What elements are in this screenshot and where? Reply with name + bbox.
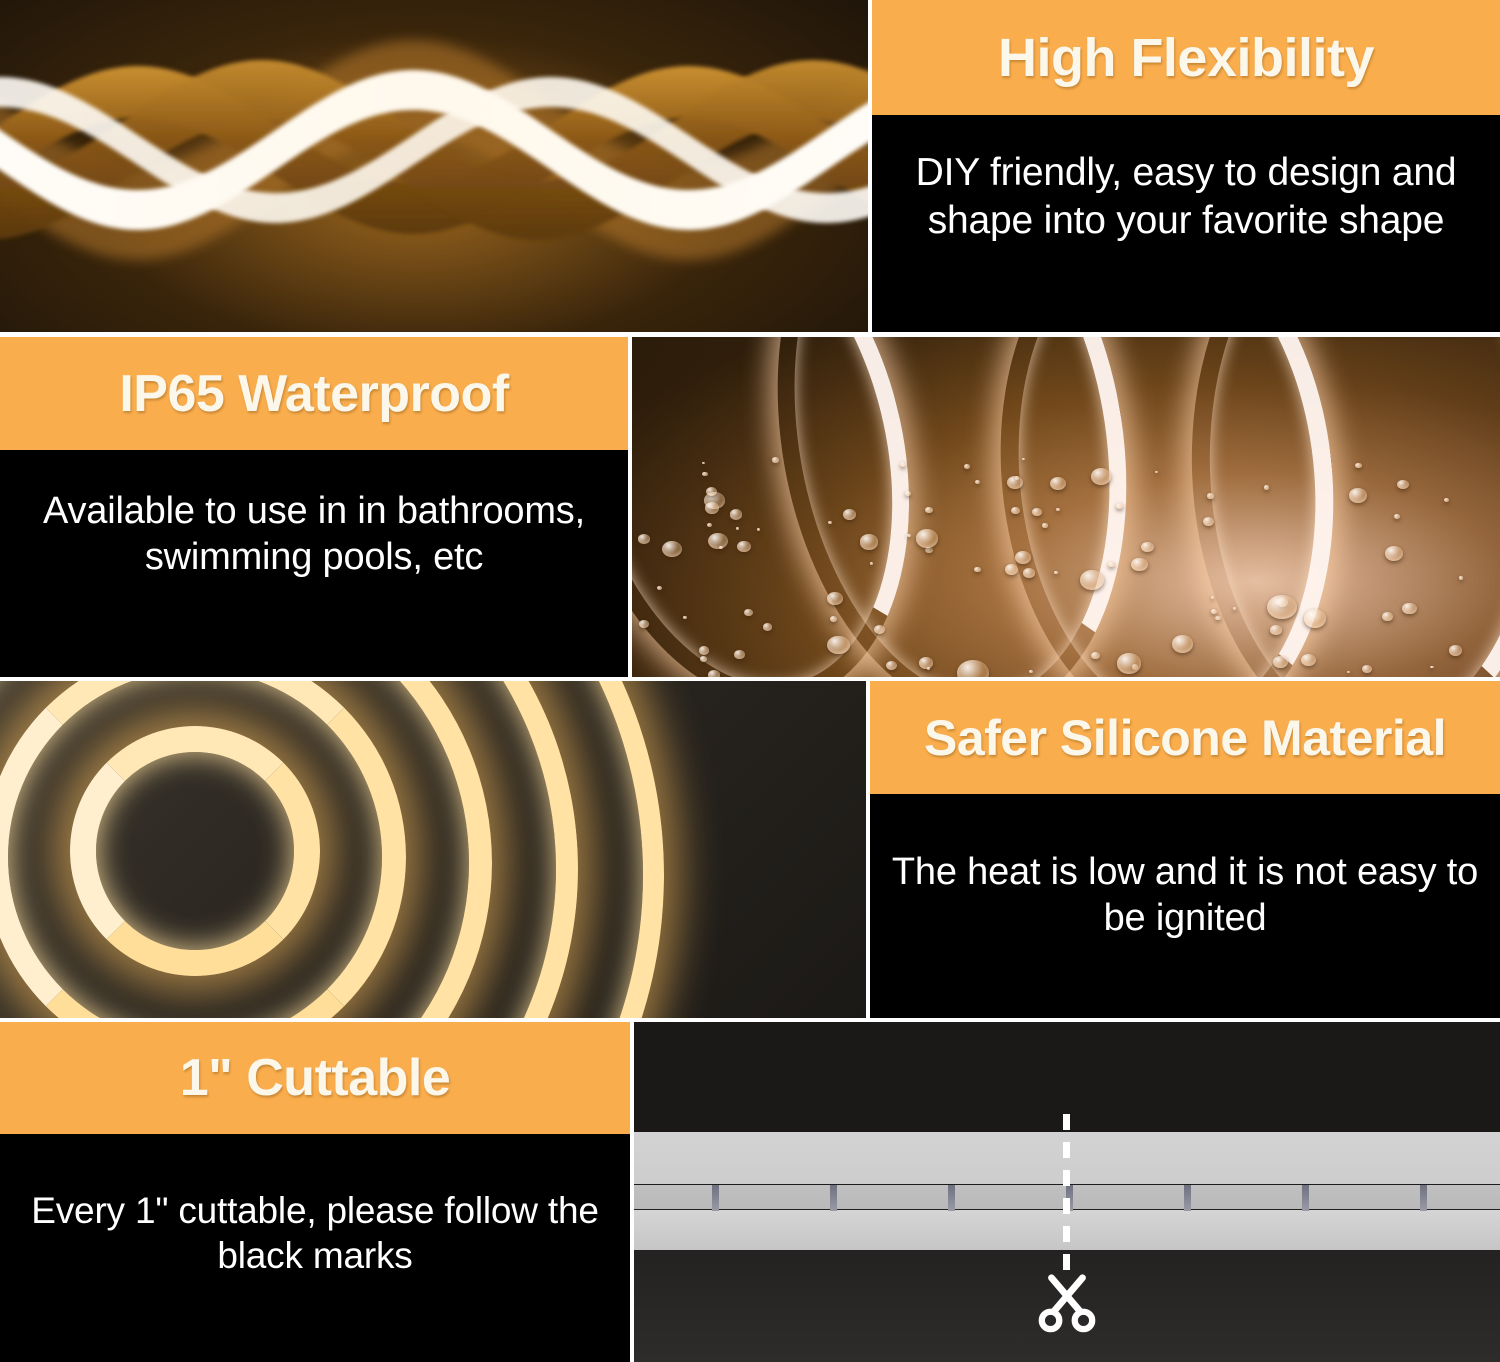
water-droplet bbox=[1042, 523, 1047, 527]
water-droplet bbox=[827, 592, 842, 605]
water-droplet bbox=[662, 541, 682, 557]
water-droplet bbox=[1005, 564, 1019, 575]
water-droplet bbox=[683, 616, 686, 619]
water-droplet bbox=[730, 509, 742, 519]
feature-row-high-flexibility: High Flexibility DIY friendly, easy to d… bbox=[0, 0, 1500, 332]
cuttable-strip-diagram bbox=[634, 1022, 1500, 1362]
feature-row-safer-silicone-material: Safer Silicone Material The heat is low … bbox=[0, 681, 1500, 1018]
water-droplet bbox=[702, 462, 705, 465]
scissors-icon bbox=[1036, 1272, 1098, 1334]
water-droplet bbox=[1050, 477, 1066, 490]
water-droplet bbox=[1117, 653, 1142, 673]
strip-cut-mark bbox=[1302, 1185, 1309, 1211]
water-droplet bbox=[1029, 670, 1033, 673]
water-droplet bbox=[1108, 562, 1115, 567]
water-droplet bbox=[860, 534, 879, 549]
strip-cut-mark bbox=[948, 1185, 955, 1211]
feature-body-wrap-safer-silicone-material: The heat is low and it is not easy to be… bbox=[870, 794, 1500, 1018]
water-droplet bbox=[700, 656, 707, 662]
water-droplet bbox=[1430, 666, 1433, 669]
feature-text-one-inch-cuttable: 1" Cuttable Every 1" cuttable, please fo… bbox=[0, 1022, 630, 1362]
water-droplet bbox=[957, 660, 989, 677]
water-droplet bbox=[699, 646, 710, 655]
water-droplet bbox=[1397, 480, 1409, 489]
feature-title-band-safer-silicone-material: Safer Silicone Material bbox=[870, 681, 1500, 794]
feature-title-one-inch-cuttable: 1" Cuttable bbox=[180, 1052, 451, 1104]
feature-text-ip65-waterproof: IP65 Waterproof Available to use in in b… bbox=[0, 337, 628, 677]
water-droplet bbox=[1080, 570, 1104, 590]
feature-body-wrap-high-flexibility: DIY friendly, easy to design and shape i… bbox=[872, 115, 1500, 332]
water-droplet bbox=[639, 620, 649, 628]
feature-row-one-inch-cuttable: 1" Cuttable Every 1" cuttable, please fo… bbox=[0, 1022, 1500, 1362]
water-droplet bbox=[708, 533, 728, 549]
water-droplet bbox=[1091, 468, 1111, 484]
water-droplet bbox=[827, 636, 850, 654]
water-droplet bbox=[1444, 498, 1449, 502]
row-divider-2 bbox=[0, 677, 1500, 681]
water-droplet bbox=[1382, 612, 1393, 621]
feature-title-safer-silicone-material: Safer Silicone Material bbox=[924, 713, 1446, 763]
feature-body-ip65-waterproof: Available to use in in bathrooms, swimmi… bbox=[0, 488, 628, 581]
water-droplet bbox=[736, 527, 739, 530]
water-droplet bbox=[638, 534, 650, 544]
water-droplet bbox=[1215, 616, 1221, 621]
cut-line-dashed bbox=[1063, 1114, 1070, 1278]
water-droplet bbox=[1264, 485, 1269, 489]
water-droplet bbox=[1459, 576, 1463, 579]
water-droplet bbox=[964, 464, 970, 469]
water-droplet bbox=[737, 541, 751, 552]
feature-text-high-flexibility: High Flexibility DIY friendly, easy to d… bbox=[872, 0, 1500, 332]
water-droplet bbox=[1402, 603, 1416, 615]
water-droplet bbox=[1015, 551, 1031, 564]
water-droplet bbox=[1349, 488, 1367, 503]
feature-body-safer-silicone-material: The heat is low and it is not easy to be… bbox=[870, 849, 1500, 942]
water-droplet bbox=[1355, 463, 1361, 468]
strip-cut-mark bbox=[712, 1185, 719, 1211]
strip-cut-mark bbox=[1184, 1185, 1191, 1211]
feature-body-high-flexibility: DIY friendly, easy to design and shape i… bbox=[872, 149, 1500, 244]
water-droplet bbox=[1011, 507, 1020, 514]
feature-image-safer-silicone-material bbox=[0, 681, 866, 1018]
feature-title-high-flexibility: High Flexibility bbox=[998, 31, 1374, 85]
strip-cut-mark bbox=[1420, 1185, 1427, 1211]
water-droplet bbox=[1233, 607, 1236, 610]
neon-arc-4 bbox=[1182, 337, 1500, 677]
row-divider-3 bbox=[0, 1018, 1500, 1022]
water-droplet bbox=[1449, 645, 1462, 656]
water-droplet bbox=[1207, 493, 1213, 498]
water-droplet bbox=[707, 523, 712, 527]
water-droplet bbox=[719, 546, 723, 549]
water-droplet bbox=[907, 534, 910, 537]
feature-title-ip65-waterproof: IP65 Waterproof bbox=[119, 368, 508, 420]
water-droplet bbox=[1141, 542, 1153, 552]
water-droplet bbox=[1301, 654, 1316, 666]
water-droplet bbox=[1172, 635, 1193, 653]
water-droplet bbox=[886, 661, 897, 670]
water-droplet bbox=[1091, 652, 1100, 659]
feature-image-high-flexibility bbox=[0, 0, 868, 332]
water-droplet bbox=[1304, 609, 1326, 627]
water-droplet bbox=[828, 521, 832, 524]
feature-title-band-one-inch-cuttable: 1" Cuttable bbox=[0, 1022, 630, 1134]
feature-image-ip65-waterproof bbox=[632, 337, 1500, 677]
water-droplet bbox=[757, 528, 760, 531]
feature-body-wrap-ip65-waterproof: Available to use in in bathrooms, swimmi… bbox=[0, 450, 628, 677]
water-droplet bbox=[830, 616, 837, 622]
water-droplet bbox=[1270, 625, 1282, 635]
feature-body-one-inch-cuttable: Every 1" cuttable, please follow the bla… bbox=[0, 1188, 630, 1278]
water-droplet bbox=[702, 472, 707, 476]
strip-cut-mark bbox=[830, 1185, 837, 1211]
water-droplets-illustration bbox=[632, 337, 1500, 677]
feature-title-band-high-flexibility: High Flexibility bbox=[872, 0, 1500, 115]
water-droplet bbox=[1022, 458, 1025, 460]
feature-text-safer-silicone-material: Safer Silicone Material The heat is low … bbox=[870, 681, 1500, 1018]
row-divider-1 bbox=[0, 332, 1500, 337]
feature-row-ip65-waterproof: IP65 Waterproof Available to use in in b… bbox=[0, 337, 1500, 677]
water-droplet bbox=[916, 529, 939, 548]
water-droplet bbox=[1273, 656, 1288, 668]
coiled-neon-strip-illustration bbox=[0, 681, 866, 1018]
water-droplet bbox=[708, 670, 720, 677]
neon-coil-5 bbox=[0, 681, 664, 1018]
feature-image-one-inch-cuttable bbox=[634, 1022, 1500, 1362]
water-droplet bbox=[1023, 568, 1035, 578]
water-droplet bbox=[1007, 476, 1023, 489]
twisted-neon-strip-illustration bbox=[0, 0, 868, 332]
feature-title-band-ip65-waterproof: IP65 Waterproof bbox=[0, 337, 628, 450]
feature-body-wrap-one-inch-cuttable: Every 1" cuttable, please follow the bla… bbox=[0, 1134, 630, 1362]
water-droplet bbox=[772, 457, 779, 462]
water-droplet bbox=[734, 650, 745, 659]
product-feature-infographic: High Flexibility DIY friendly, easy to d… bbox=[0, 0, 1500, 1362]
water-droplet bbox=[763, 623, 772, 630]
